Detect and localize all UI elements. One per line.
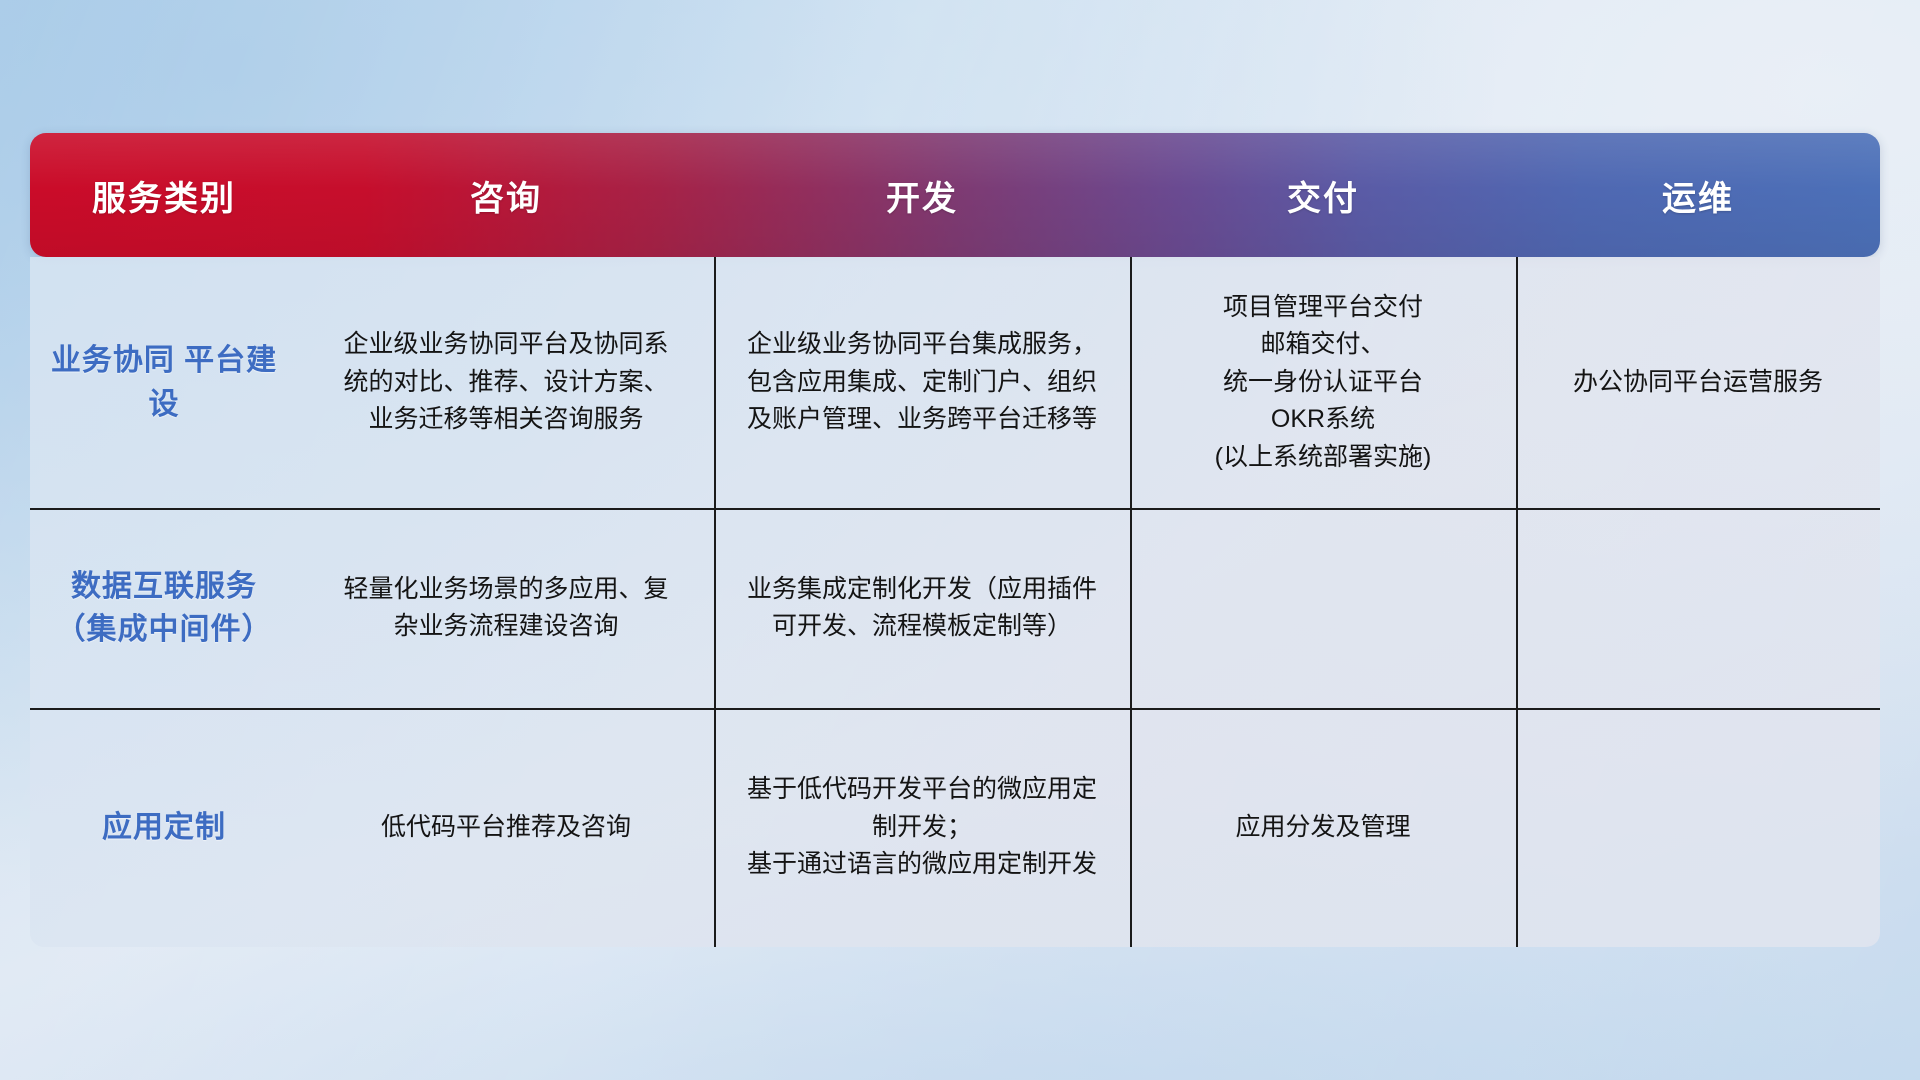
column-header-development: 开发	[714, 171, 1130, 220]
cell-text: 项目管理平台交付 邮箱交付、 统一身份认证平台 OKR系统 (以上系统部署实施)	[1215, 289, 1432, 477]
column-header-category: 服务类别	[30, 171, 298, 220]
row-label-cell: 数据互联服务 （集成中间件）	[30, 508, 298, 708]
cell-consulting: 低代码平台推荐及咨询	[298, 708, 714, 947]
row-label-text: 业务协同 平台建设	[44, 339, 284, 426]
cell-delivery: 应用分发及管理	[1130, 708, 1516, 947]
cell-consulting: 企业级业务协同平台及协同系 统的对比、推荐、设计方案、 业务迁移等相关咨询服务	[298, 257, 714, 508]
table-body: 业务协同 平台建设 企业级业务协同平台及协同系 统的对比、推荐、设计方案、 业务…	[30, 257, 1880, 947]
row-label-cell: 应用定制	[30, 708, 298, 947]
cell-text: 企业级业务协同平台集成服务， 包含应用集成、定制门户、组织 及账户管理、业务跨平…	[747, 326, 1097, 439]
row-label-text: 应用定制	[102, 806, 226, 850]
table-row: 业务协同 平台建设 企业级业务协同平台及协同系 统的对比、推荐、设计方案、 业务…	[30, 257, 1880, 508]
column-header-delivery: 交付	[1130, 171, 1516, 220]
table-row: 数据互联服务 （集成中间件） 轻量化业务场景的多应用、复 杂业务流程建设咨询 业…	[30, 508, 1880, 708]
cell-text: 业务集成定制化开发（应用插件 可开发、流程模板定制等）	[747, 571, 1097, 646]
cell-development: 业务集成定制化开发（应用插件 可开发、流程模板定制等）	[714, 508, 1130, 708]
cell-text: 应用分发及管理	[1235, 809, 1410, 847]
cell-operations	[1516, 508, 1880, 708]
cell-delivery: 项目管理平台交付 邮箱交付、 统一身份认证平台 OKR系统 (以上系统部署实施)	[1130, 257, 1516, 508]
cell-consulting: 轻量化业务场景的多应用、复 杂业务流程建设咨询	[298, 508, 714, 708]
table-header-row: 服务类别 咨询 开发 交付 运维	[30, 133, 1880, 257]
cell-development: 基于低代码开发平台的微应用定 制开发； 基于通过语言的微应用定制开发	[714, 708, 1130, 947]
cell-text: 轻量化业务场景的多应用、复 杂业务流程建设咨询	[343, 571, 668, 646]
column-header-consulting: 咨询	[298, 171, 714, 220]
cell-development: 企业级业务协同平台集成服务， 包含应用集成、定制门户、组织 及账户管理、业务跨平…	[714, 257, 1130, 508]
cell-text: 企业级业务协同平台及协同系 统的对比、推荐、设计方案、 业务迁移等相关咨询服务	[343, 326, 668, 439]
row-label-text: 数据互联服务 （集成中间件）	[44, 565, 284, 652]
cell-operations: 办公协同平台运营服务	[1516, 257, 1880, 508]
cell-text: 办公协同平台运营服务	[1573, 364, 1823, 402]
service-matrix-table: 服务类别 咨询 开发 交付 运维 业务协同 平台建设 企业级业务协同平台及协同系…	[30, 133, 1880, 947]
column-header-operations: 运维	[1516, 171, 1880, 220]
cell-text: 基于低代码开发平台的微应用定 制开发； 基于通过语言的微应用定制开发	[747, 771, 1097, 884]
row-label-cell: 业务协同 平台建设	[30, 257, 298, 508]
cell-operations	[1516, 708, 1880, 947]
cell-text: 低代码平台推荐及咨询	[381, 809, 631, 847]
cell-delivery	[1130, 508, 1516, 708]
table-row: 应用定制 低代码平台推荐及咨询 基于低代码开发平台的微应用定 制开发； 基于通过…	[30, 708, 1880, 947]
